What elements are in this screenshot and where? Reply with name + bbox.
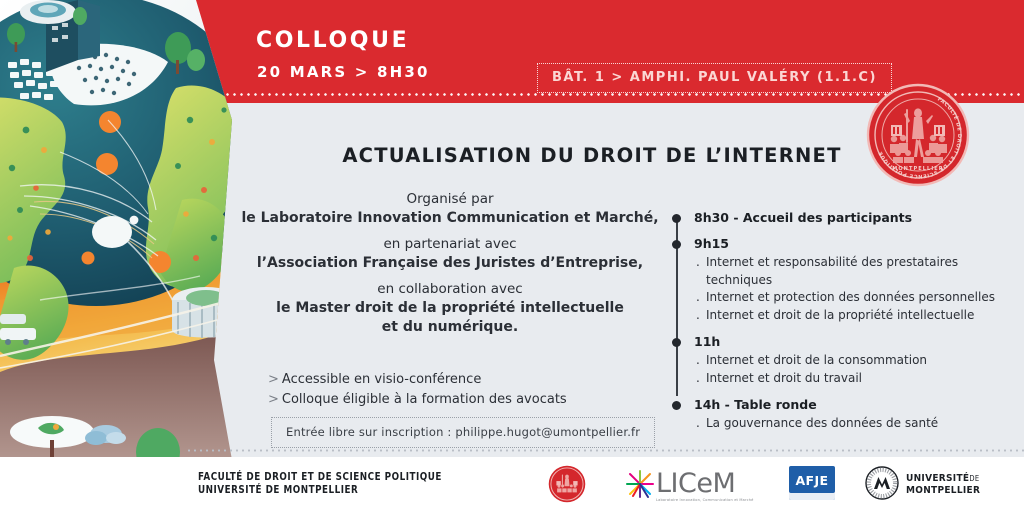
afje-book-icon: AFJE xyxy=(789,466,835,500)
sub-text: Internet et protection des données perso… xyxy=(706,290,995,304)
sub-text: Internet et responsabilité des prestatai… xyxy=(706,255,958,287)
faculty-name-line2: UNIVERSITÉ DE MONTPELLIER xyxy=(198,484,442,497)
poster-root: COLLOQUE 20 MARS > 8H30 BÂT. 1 > AMPHI. … xyxy=(0,0,1024,512)
faculty-name: FACULTÉ DE DROIT ET DE SCIENCE POLITIQUE… xyxy=(198,471,442,497)
schedule-item: 9h15 .Internet et responsabilité des pre… xyxy=(672,236,1012,324)
schedule-sub-list: .Internet et responsabilité des prestata… xyxy=(694,254,1012,324)
sub-marker: . xyxy=(696,289,700,307)
note-item: >Colloque éligible à la formation des av… xyxy=(268,390,658,410)
organisers-block: Organisé par le Laboratoire Innovation C… xyxy=(240,190,660,337)
note-marker: > xyxy=(268,392,279,407)
bullet-dot-icon xyxy=(672,338,681,347)
organiser-line: le Master droit de la propriété intellec… xyxy=(240,299,660,318)
schedule-sub-item: .La gouvernance des données de santé xyxy=(694,415,1012,433)
afje-wordmark: AFJE xyxy=(795,473,828,488)
um-line2: MONTPELLIER xyxy=(906,485,980,497)
schedule-time: 8h30 - Accueil des participants xyxy=(694,210,1012,226)
note-item: >Accessible en visio-conférence xyxy=(268,370,658,390)
organiser-line: en collaboration avec xyxy=(240,280,660,299)
licem-tagline: Laboratoire Innovation, Communication et… xyxy=(656,498,753,502)
note-marker: > xyxy=(268,372,279,387)
schedule-sub-item: .Internet et droit de la consommation xyxy=(694,352,1012,370)
footer-faculty-seal-icon xyxy=(548,465,586,503)
bullet-dot-icon xyxy=(672,401,681,410)
event-kicker: COLLOQUE xyxy=(256,28,409,53)
um-crest-icon xyxy=(865,466,899,504)
um-line1: UNIVERSITÉ xyxy=(906,473,969,484)
registration-box[interactable]: Entrée libre sur inscription : philippe.… xyxy=(271,417,655,448)
footer-band: FACULTÉ DE DROIT ET DE SCIENCE POLITIQUE… xyxy=(0,457,1024,512)
um-line1-small: DE xyxy=(969,474,979,483)
organiser-line: en partenariat avec xyxy=(240,235,660,254)
licem-wordmark: LICeM xyxy=(656,468,735,499)
schedule-item: 11h .Internet et droit de la consommatio… xyxy=(672,334,1012,387)
sub-marker: . xyxy=(696,254,700,272)
organiser-line: l’Association Française des Juristes d’E… xyxy=(240,254,660,273)
sub-text: Internet et droit de la consommation xyxy=(706,353,927,367)
globe-illustration xyxy=(0,0,232,512)
universite-montpellier-logo: UNIVERSITÉDE MONTPELLIER xyxy=(865,466,980,504)
organiser-line: le Laboratoire Innovation Communication … xyxy=(240,209,660,228)
faculty-seal-icon: FACULTÉ DE DROIT ET DE SCIENCE POLITIQUE… xyxy=(866,83,970,187)
sub-marker: . xyxy=(696,370,700,388)
sub-text: Internet et droit du travail xyxy=(706,371,862,385)
afje-logo: AFJE xyxy=(789,466,835,500)
schedule-sub-item: .Internet et responsabilité des prestata… xyxy=(694,254,1012,289)
schedule-sub-list: .Internet et droit de la consommation .I… xyxy=(694,352,1012,387)
event-date-time: 20 MARS > 8H30 xyxy=(257,63,430,81)
schedule-time: 9h15 xyxy=(694,236,1012,252)
um-wordmark: UNIVERSITÉDE MONTPELLIER xyxy=(906,473,980,497)
schedule-time: 11h xyxy=(694,334,1012,350)
sub-text: Internet et droit de la propriété intell… xyxy=(706,308,974,322)
note-text: Accessible en visio-conférence xyxy=(282,372,481,387)
schedule-sub-list: .La gouvernance des données de santé xyxy=(694,415,1012,433)
schedule-item: 14h - Table ronde .La gouvernance des do… xyxy=(672,397,1012,433)
schedule-time: 14h - Table ronde xyxy=(694,397,1012,413)
schedule-list: 8h30 - Accueil des participants 9h15 .In… xyxy=(672,210,1012,443)
svg-text:MONTPELLIER: MONTPELLIER xyxy=(892,166,944,172)
organiser-line: Organisé par xyxy=(240,190,660,209)
footer-dotted-divider xyxy=(186,449,1024,452)
schedule-sub-item: .Internet et protection des données pers… xyxy=(694,289,1012,307)
schedule-sub-item: .Internet et droit de la propriété intel… xyxy=(694,307,1012,325)
venue-badge: BÂT. 1 > AMPHI. PAUL VALÉRY (1.1.C) xyxy=(537,63,892,93)
licem-burst-icon xyxy=(624,468,656,504)
notes-block: >Accessible en visio-conférence >Colloqu… xyxy=(268,370,658,409)
sub-marker: . xyxy=(696,352,700,370)
bullet-dot-icon xyxy=(672,240,681,249)
sub-text: La gouvernance des données de santé xyxy=(706,416,938,430)
organiser-line: et du numérique. xyxy=(240,318,660,337)
faculty-name-line1: FACULTÉ DE DROIT ET DE SCIENCE POLITIQUE xyxy=(198,471,442,484)
bullet-dot-icon xyxy=(672,214,681,223)
schedule-sub-item: .Internet et droit du travail xyxy=(694,370,1012,388)
licem-logo: LICeM Laboratoire Innovation, Communicat… xyxy=(624,468,753,504)
note-text: Colloque éligible à la formation des avo… xyxy=(282,392,567,407)
schedule-item: 8h30 - Accueil des participants xyxy=(672,210,1012,226)
sub-marker: . xyxy=(696,415,700,433)
sub-marker: . xyxy=(696,307,700,325)
